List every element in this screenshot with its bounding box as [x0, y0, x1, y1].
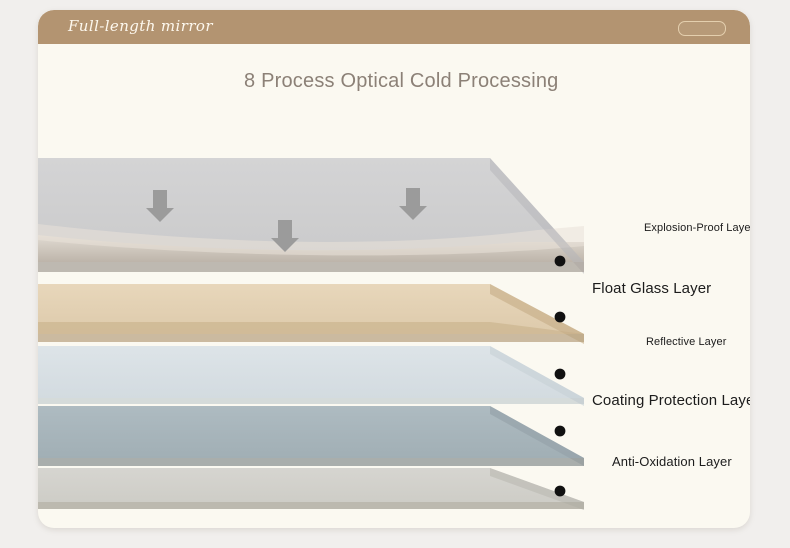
layer-explosion-proof [38, 158, 584, 274]
callout-leader-2 [555, 312, 726, 323]
callout-dot [555, 369, 566, 380]
callout-dot [555, 256, 566, 267]
layer-label-float-glass: Float Glass Layer [592, 280, 711, 297]
callout-dot [555, 486, 566, 497]
layer-label-explosion-proof: Explosion-Proof Layer [644, 222, 750, 234]
layer-label-coating-protection: Coating Protection Layer [592, 392, 750, 409]
callout-leader-3 [555, 369, 726, 380]
layer-stack-graphic [38, 10, 750, 528]
layer-label-anti-oxidation: Anti-Oxidation Layer [612, 454, 732, 469]
exploded-layer-stack: Explosion-Proof Layer Float Glass Layer … [38, 10, 750, 528]
callout-leader-4 [555, 426, 726, 437]
callout-dot [555, 426, 566, 437]
layer-label-reflective: Reflective Layer [646, 336, 726, 348]
callout-leader-5 [555, 486, 726, 497]
layer-anti-oxidation [38, 468, 584, 510]
product-card: Full-length mirror 8 Process Optical Col… [38, 10, 750, 528]
layer-float-glass [38, 284, 584, 344]
layer-reflective [38, 346, 584, 406]
callout-dot [555, 312, 566, 323]
layer-coating-protection [38, 406, 584, 466]
